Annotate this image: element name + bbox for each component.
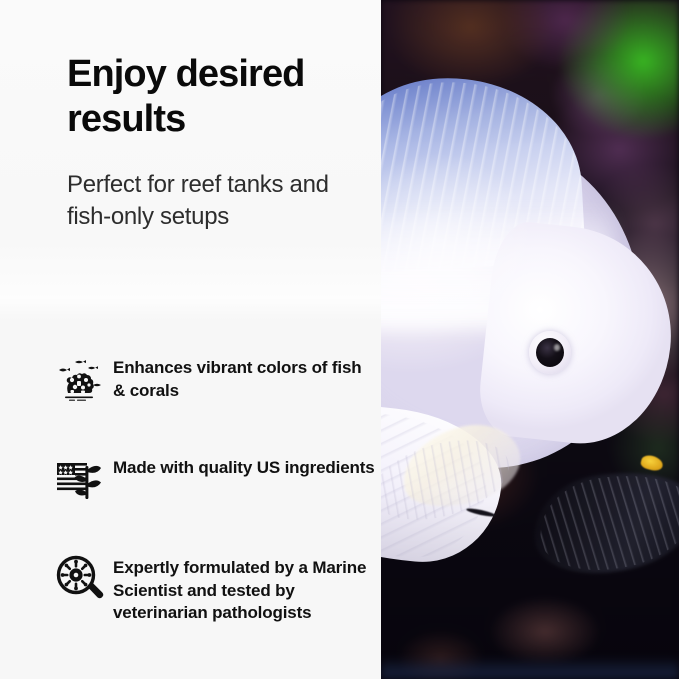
us-flag-plant-icon [55,453,113,505]
feature-label: Expertly formulated by a Marine Scientis… [113,553,375,625]
content-panel: Enjoy desired results Perfect for reef t… [0,0,381,679]
reef-bottom-glow [381,657,679,679]
fish-head [475,219,679,452]
magnifier-microbe-icon [55,553,113,605]
feature-item-colors: Enhances vibrant colors of fish & corals [55,353,375,405]
page-subtitle: Perfect for reef tanks and fish-only set… [67,142,367,233]
fish-eye-highlight [554,344,560,351]
product-lifestyle-photo [381,0,679,679]
page-title: Enjoy desired results [67,52,367,142]
product-feature-banner: Enjoy desired results Perfect for reef t… [0,0,679,679]
tang-fish [381,78,671,548]
feature-label: Made with quality US ingredients [113,453,375,480]
coral-reef-fish-icon [55,353,113,405]
feature-item-us-ingredients: Made with quality US ingredients [55,453,375,505]
headline-block: Enjoy desired results Perfect for reef t… [67,52,367,233]
fish-eye [536,338,564,367]
feature-item-formulation: Expertly formulated by a Marine Scientis… [55,553,375,625]
feature-label: Enhances vibrant colors of fish & corals [113,353,375,402]
fish-mouth [640,454,665,473]
